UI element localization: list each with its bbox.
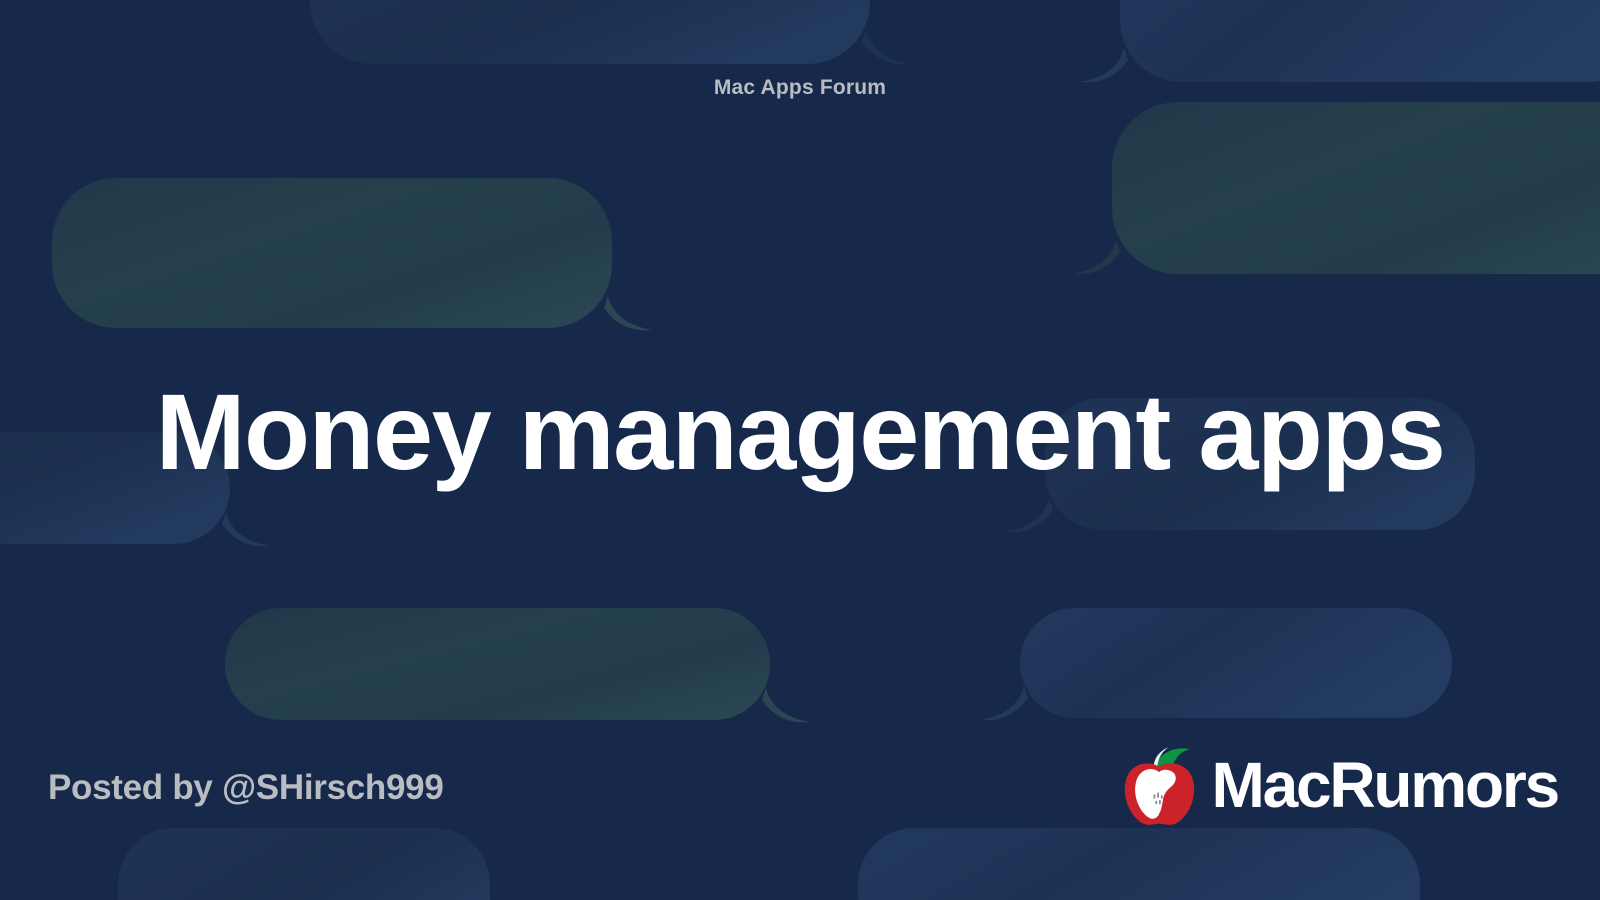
bubble-teal-left: [52, 178, 652, 330]
bubble-top-right: [1080, 0, 1600, 82]
bubble-bottom-right: [818, 828, 1420, 900]
posted-by-label: Posted by @SHirsch999: [48, 768, 443, 808]
forum-label: Mac Apps Forum: [0, 76, 1600, 100]
bubble-top-center: [310, 0, 910, 64]
bubble-lower-teal: [225, 608, 810, 722]
page-title: Money management apps: [110, 368, 1490, 495]
brand-wordmark: MacRumors: [1211, 753, 1558, 817]
bubble-lower-right: [980, 608, 1452, 720]
bubble-teal-right: [1072, 102, 1600, 274]
brand-lockup: MacRumors: [1113, 733, 1558, 837]
macrumors-apple-logo-icon: [1113, 739, 1205, 831]
bubble-bottom-left: [118, 828, 530, 900]
social-share-card: Mac Apps Forum Money management apps Pos…: [0, 0, 1600, 900]
